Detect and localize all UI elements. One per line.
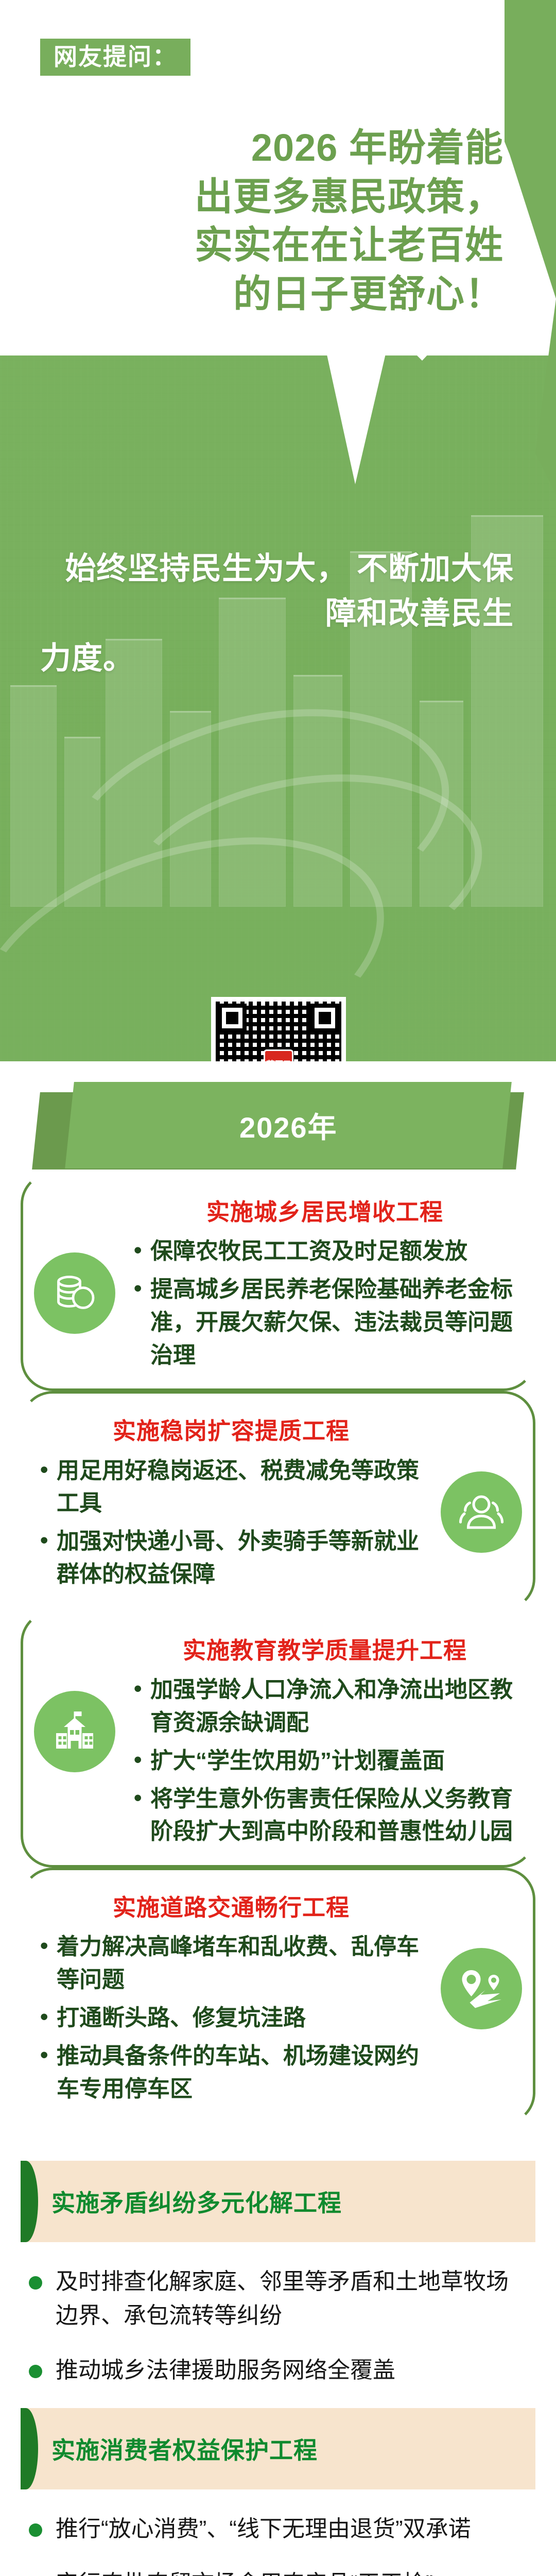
section-bullet-list: 推行“放心消费”、“线下无理由退货”双承诺 实行农批农贸市场食用农产品“天天检”: [21, 2512, 535, 2576]
card-bullet: 加强学龄人口净流入和净流出地区教育资源余缺调配: [132, 1673, 518, 1739]
hero-answer-line: 力度。: [40, 636, 514, 681]
card-title: 实施稳岗扩容提质工程: [38, 1417, 424, 1446]
card-bullet: 推动具备条件的车站、机场建设网约车专用停车区: [38, 2040, 424, 2106]
school-building-icon: [34, 1691, 115, 1772]
year-ribbon: 2026年: [0, 1061, 556, 1172]
section-title: 实施矛盾纠纷多元化解工程: [51, 2184, 342, 2218]
qr-code[interactable]: 草原云: [211, 997, 346, 1061]
section-bullet-list: 及时排查化解家庭、邻里等矛盾和土地草牧场边界、承包流转等纠纷 推动城乡法律援助服…: [21, 2265, 535, 2387]
hero-question-line: 的日子更舒心！: [40, 270, 503, 319]
section-bullet: 推行“放心消费”、“线下无理由退货”双承诺: [56, 2512, 528, 2546]
ask-badge: 网友提问：: [40, 39, 190, 76]
card-bullet-list: 加强学龄人口净流入和净流出地区教育资源余缺调配 扩大“学生饮用奶”计划覆盖面 将…: [132, 1673, 518, 1848]
section-consumer-rights: 实施消费者权益保护工程 推行“放心消费”、“线下无理由退货”双承诺 实行农批农贸…: [21, 2408, 535, 2576]
card-bullet: 保障农牧民工工资及时足额发放: [132, 1235, 518, 1268]
card-bullet-list: 用足用好稳岗返还、税费减免等政策工具 加强对快递小哥、外卖骑手等新就业群体的权益…: [38, 1454, 424, 1591]
program-cards: 实施城乡居民增收工程 保障农牧民工工资及时足额发放 提高城乡居民养老保险基础养老…: [0, 1172, 556, 2145]
hero-question-line: 实实在在让老百姓: [40, 221, 503, 270]
card-bullet-list: 着力解决高峰堵车和乱收费、乱停车等问题 打通断头路、修复坑洼路 推动具备条件的车…: [38, 1930, 424, 2105]
ribbon-year-label: 2026年: [239, 1105, 338, 1146]
card-bullet: 用足用好稳岗返还、税费减免等政策工具: [38, 1454, 424, 1520]
hero-question-line: 出更多惠民政策，: [40, 173, 503, 222]
card-job-stability: 实施稳岗扩容提质工程 用足用好稳岗返还、税费减免等政策工具 加强对快递小哥、外卖…: [21, 1391, 535, 1610]
section-bullet: 及时排查化解家庭、邻里等矛盾和土地草牧场边界、承包流转等纠纷: [56, 2265, 528, 2333]
card-urban-rural-income: 实施城乡居民增收工程 保障农牧民工工资及时足额发放 提高城乡居民养老保险基础养老…: [21, 1172, 535, 1391]
card-road-traffic: 实施道路交通畅行工程 着力解决高峰堵车和乱收费、乱停车等问题 打通断头路、修复坑…: [21, 1868, 535, 2125]
qr-code-matrix: 草原云: [216, 1002, 341, 1061]
section-dispute-resolution: 实施矛盾纠纷多元化解工程 及时排查化解家庭、邻里等矛盾和土地草牧场边界、承包流转…: [21, 2161, 535, 2387]
card-bullet: 着力解决高峰堵车和乱收费、乱停车等问题: [38, 1930, 424, 1996]
section-bullet: 推动城乡法律援助服务网络全覆盖: [56, 2353, 528, 2387]
road-map-pin-icon: [441, 1948, 522, 2029]
qr-logo: 草原云: [264, 1049, 293, 1061]
hero-question-line: 2026 年盼着能: [40, 124, 503, 173]
hero-answer-line: 始终坚持民生为大，: [65, 551, 347, 586]
card-bullet: 打通断头路、修复坑洼路: [38, 2002, 424, 2035]
card-bullet: 加强对快递小哥、外卖骑手等新就业群体的权益保障: [38, 1525, 424, 1591]
section-bullet: 实行农批农贸市场食用农产品“天天检”: [56, 2567, 528, 2576]
card-title: 实施城乡居民增收工程: [132, 1198, 518, 1227]
hero-question: 2026 年盼着能 出更多惠民政策， 实实在在让老百姓 的日子更舒心！: [40, 124, 503, 319]
card-bullet: 扩大“学生饮用奶”计划覆盖面: [132, 1744, 518, 1777]
section-title: 实施消费者权益保护工程: [51, 2432, 318, 2466]
card-education-quality: 实施教育教学质量提升工程 加强学龄人口净流入和净流出地区教育资源余缺调配 扩大“…: [21, 1611, 535, 1868]
hero-section: 网友提问： 2026 年盼着能 出更多惠民政策， 实实在在让老百姓 的日子更舒心…: [0, 0, 556, 1061]
card-bullet: 提高城乡居民养老保险基础养老金标准，开展欠薪欠保、违法裁员等问题治理: [132, 1273, 518, 1371]
section-header: 实施消费者权益保护工程: [21, 2408, 535, 2489]
card-bullet-list: 保障农牧民工工资及时足额发放 提高城乡居民养老保险基础养老金标准，开展欠薪欠保、…: [132, 1235, 518, 1371]
coins-icon: [34, 1252, 115, 1334]
program-sections: 实施矛盾纠纷多元化解工程 及时排查化解家庭、邻里等矛盾和土地草牧场边界、承包流转…: [0, 2145, 556, 2576]
card-title: 实施道路交通畅行工程: [38, 1893, 424, 1922]
section-header: 实施矛盾纠纷多元化解工程: [21, 2161, 535, 2242]
cityscape-background: [0, 355, 556, 1061]
hero-answer-line: 不断加大保障和改善民生: [325, 551, 514, 631]
people-group-icon: [441, 1471, 522, 1553]
card-bullet: 将学生意外伤害责任保险从义务教育阶段扩大到高中阶段和普惠性幼儿园: [132, 1783, 518, 1849]
hero-answer: 始终坚持民生为大， 不断加大保障和改善民生 力度。: [40, 546, 514, 681]
card-title: 实施教育教学质量提升工程: [132, 1636, 518, 1665]
ribbon-banner: 2026年: [65, 1082, 512, 1168]
